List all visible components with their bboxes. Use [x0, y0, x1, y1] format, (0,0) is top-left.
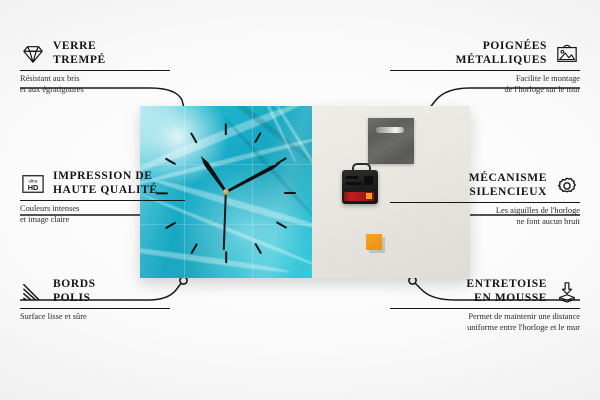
callout-verre-trempe: VERRE TREMPÉ Résistant aux bris et aux é…	[20, 40, 210, 95]
callout-title-line1: ENTRETOISE	[466, 278, 547, 292]
polished-edge-icon	[20, 281, 46, 303]
battery-plus-terminal	[366, 193, 372, 199]
clock-mechanism-box	[342, 170, 378, 204]
callout-bords-polis: BORDS POLIS Surface lisse et sûre	[20, 278, 210, 323]
callout-entretoise-mousse: ENTRETOISE EN MOUSSE Permet de maintenir…	[390, 278, 580, 333]
callout-title-line2: POLIS	[53, 292, 96, 306]
callout-title-line1: MÉCANISME	[469, 172, 547, 186]
callout-title-line2: HAUTE QUALITÉ	[53, 184, 158, 198]
callout-title-line1: POIGNÉES	[456, 40, 547, 54]
callout-sub-line1: Les aiguilles de l'horloge	[390, 206, 580, 216]
callout-sub-line1: Facilite le montage	[390, 74, 580, 84]
callout-title-line1: VERRE	[53, 40, 106, 54]
callout-rule	[20, 308, 170, 309]
hanger-slot	[376, 127, 404, 133]
diamond-icon	[20, 43, 46, 65]
callout-sub-line2: uniforme entre l'horloge et le mur	[390, 323, 580, 333]
clock-center-pin	[223, 189, 229, 195]
callout-title-line2: MÉTALLIQUES	[456, 54, 547, 68]
svg-text:HD: HD	[28, 182, 39, 191]
ultra-hd-icon: ultra HD	[20, 173, 46, 195]
foam-spacer	[366, 234, 382, 250]
callout-title-line2: SILENCIEUX	[469, 186, 547, 200]
callout-sub-line1: Surface lisse et sûre	[20, 312, 210, 322]
minute-hand	[225, 161, 282, 194]
battery	[344, 192, 374, 201]
callout-rule	[390, 308, 580, 309]
callout-rule	[20, 70, 170, 71]
callout-rule	[390, 70, 580, 71]
mechanism-hanging-loop	[352, 163, 371, 174]
callout-title-line2: EN MOUSSE	[466, 292, 547, 306]
callout-title-line1: BORDS	[53, 278, 96, 292]
picture-hanger-icon	[554, 43, 580, 65]
callout-sub-line2: ne font aucun bruit	[390, 217, 580, 227]
callout-sub-line1: Résistant aux bris	[20, 74, 210, 84]
callout-rule	[20, 200, 185, 201]
foam-spacer-icon	[554, 281, 580, 303]
callout-rule	[390, 202, 580, 203]
metal-hanger-plate	[368, 118, 414, 164]
callout-sub-line2: et image claire	[20, 215, 210, 225]
callout-sub-line1: Couleurs intenses	[20, 204, 210, 214]
callout-poignees-metalliques: POIGNÉES MÉTALLIQUES Facilite le montage…	[390, 40, 580, 95]
callout-sub-line2: de l'horloge sur le mur	[390, 85, 580, 95]
callout-mecanisme-silencieux: MÉCANISME SILENCIEUX Les aiguilles de l'…	[390, 172, 580, 227]
callout-title-line1: IMPRESSION DE	[53, 170, 158, 184]
gear-icon	[554, 175, 580, 197]
callout-sub-line1: Permet de maintenir une distance	[390, 312, 580, 322]
infographic-canvas: VERRE TREMPÉ Résistant aux bris et aux é…	[0, 0, 600, 400]
callout-sub-line2: et aux égratignures	[20, 85, 210, 95]
callout-impression-hd: ultra HD IMPRESSION DE HAUTE QUALITÉ Cou…	[20, 170, 210, 225]
callout-title-line2: TREMPÉ	[53, 54, 106, 68]
